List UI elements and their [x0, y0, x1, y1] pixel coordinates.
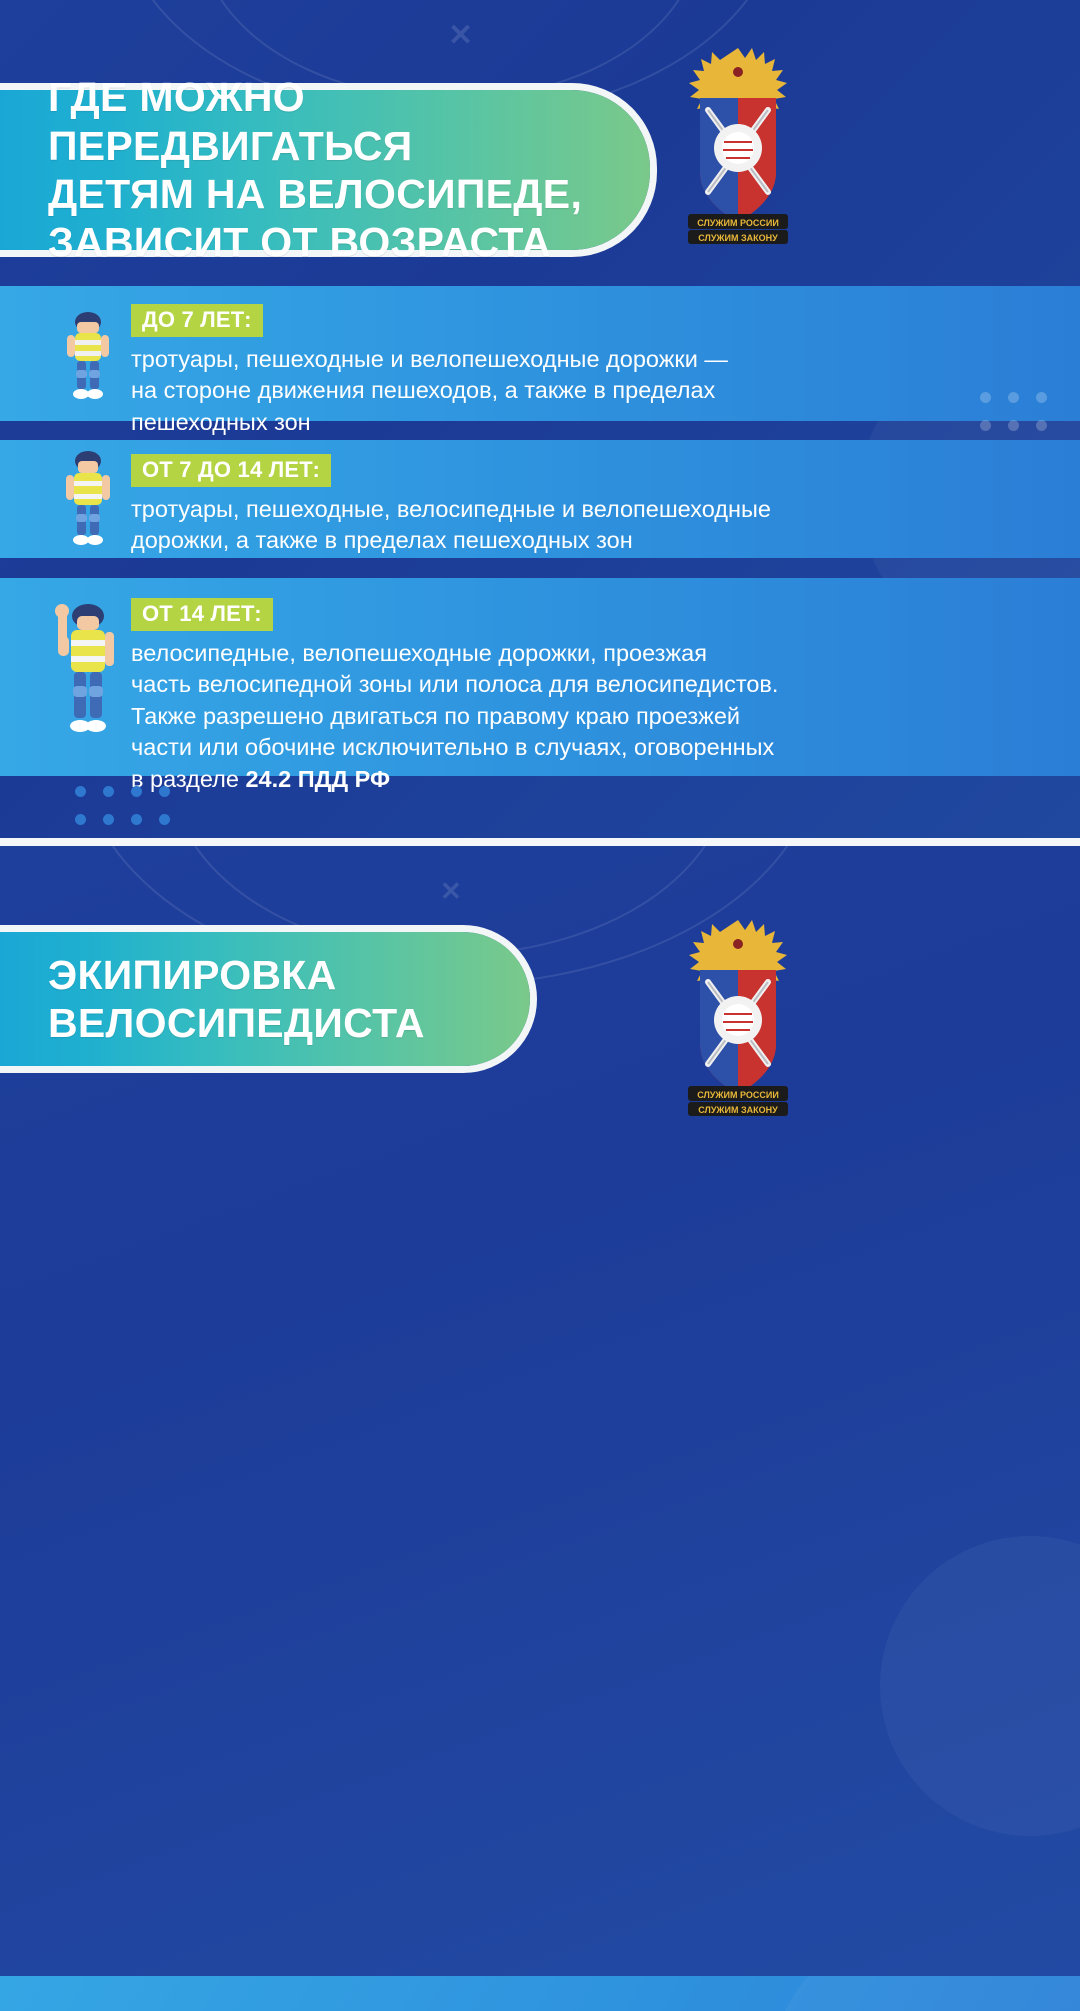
- decorative-blob: [880, 1536, 1080, 1836]
- section-cycling-rules: ✕ ✕ ГДЕ МОЖНО ПЕРЕДВИГАТЬСЯ ДЕТЯМ НА ВЕЛ…: [0, 0, 1080, 838]
- svg-text:СЛУЖИМ РОССИИ: СЛУЖИМ РОССИИ: [697, 218, 779, 228]
- decorative-dot-grid: [980, 392, 1047, 431]
- rule-text: тротуары, пешеходные, велосипедные и вел…: [131, 494, 771, 557]
- decorative-dot-grid: [75, 786, 170, 825]
- page-title: ГДЕ МОЖНО ПЕРЕДВИГАТЬСЯ ДЕТЯМ НА ВЕЛОСИП…: [0, 73, 650, 267]
- rule-text-emphasis: 24.2 ПДД РФ: [245, 766, 390, 792]
- child-cyclist-7-to-14-figure: [55, 448, 121, 548]
- rule-text: тротуары, пешеходные и велопешеходные до…: [131, 344, 728, 438]
- decorative-x-icon: ✕: [440, 876, 462, 907]
- age-badge: ОТ 7 ДО 14 ЛЕТ:: [131, 454, 331, 487]
- mvd-emblem-graphic: СЛУЖИМ РОССИИ СЛУЖИМ ЗАКОНУ: [672, 904, 804, 1120]
- section-title-banner: ГДЕ МОЖНО ПЕРЕДВИГАТЬСЯ ДЕТЯМ НА ВЕЛОСИП…: [0, 90, 650, 250]
- equipment-title-banner: ЭКИПИРОВКА ВЕЛОСИПЕДИСТА: [0, 932, 530, 1066]
- rule-row-content: ОТ 14 ЛЕТ: велосипедные, велопешеходные …: [131, 598, 778, 795]
- section-divider: [0, 838, 1080, 846]
- equipment-grid: Велошлем: [0, 1976, 1080, 2011]
- decorative-blob: [760, 1976, 1080, 2011]
- mvd-emblem: СЛУЖИМ РОССИИ СЛУЖИМ ЗАКОНУ: [672, 32, 804, 248]
- svg-text:СЛУЖИМ РОССИИ: СЛУЖИМ РОССИИ: [697, 1090, 779, 1100]
- decorative-x-icon: ✕: [448, 18, 473, 53]
- mvd-emblem: СЛУЖИМ РОССИИ СЛУЖИМ ЗАКОНУ: [672, 904, 804, 1120]
- svg-text:СЛУЖИМ ЗАКОНУ: СЛУЖИМ ЗАКОНУ: [698, 233, 778, 243]
- rule-text: велосипедные, велопешеходные дорожки, пр…: [131, 638, 778, 795]
- equipment-title: ЭКИПИРОВКА ВЕЛОСИПЕДИСТА: [0, 951, 425, 1048]
- rule-row-content: ДО 7 ЛЕТ: тротуары, пешеходные и велопеш…: [131, 304, 728, 438]
- child-cyclist-under-7-figure: [55, 308, 121, 404]
- svg-text:СЛУЖИМ ЗАКОНУ: СЛУЖИМ ЗАКОНУ: [698, 1105, 778, 1115]
- age-badge: ОТ 14 ЛЕТ:: [131, 598, 273, 631]
- age-badge: ДО 7 ЛЕТ:: [131, 304, 263, 337]
- rule-row-over-14: ОТ 14 ЛЕТ: велосипедные, велопешеходные …: [0, 578, 1080, 776]
- rule-row-content: ОТ 7 ДО 14 ЛЕТ: тротуары, пешеходные, ве…: [131, 454, 771, 557]
- infographic-page: ✕ ✕ ГДЕ МОЖНО ПЕРЕДВИГАТЬСЯ ДЕТЯМ НА ВЕЛ…: [0, 0, 1080, 2011]
- rule-row-under-7: ДО 7 ЛЕТ: тротуары, пешеходные и велопеш…: [0, 286, 1080, 421]
- mvd-emblem-graphic: СЛУЖИМ РОССИИ СЛУЖИМ ЗАКОНУ: [672, 32, 804, 248]
- rule-text-main: велосипедные, велопешеходные дорожки, пр…: [131, 640, 778, 792]
- rule-row-7-to-14: ОТ 7 ДО 14 ЛЕТ: тротуары, пешеходные, ве…: [0, 440, 1080, 558]
- section-cyclist-equipment: ✕ ЭКИПИРОВКА ВЕЛОСИПЕДИСТА: [0, 846, 1080, 2011]
- teen-cyclist-over-14-figure: [48, 598, 130, 748]
